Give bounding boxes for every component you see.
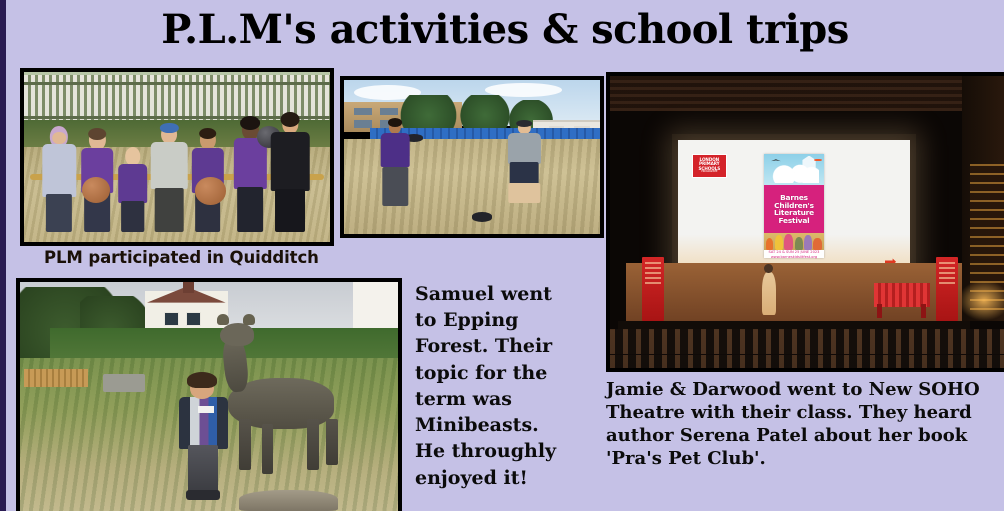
theatre-caption: Jamie & Darwood went to New SOHO Theatre… bbox=[606, 378, 1002, 470]
epping-forest-caption: Samuel went to Epping Forest. Their topi… bbox=[415, 281, 563, 491]
poster-website: www.barneskidslitfest.org bbox=[764, 255, 824, 260]
barnes-festival-poster: Barnes Children's Literature Festival bbox=[764, 154, 824, 259]
soho-theatre-photo: LONDON PRIMARY SCHOOLS PROGRAMME Barnes bbox=[606, 72, 1004, 372]
london-primary-schools-logo: LONDON PRIMARY SCHOOLS PROGRAMME bbox=[692, 154, 727, 178]
epping-forest-deer-photo bbox=[16, 278, 402, 511]
logo-line-4: PROGRAMME bbox=[701, 171, 717, 174]
quidditch-group-photo bbox=[20, 68, 334, 246]
poster-title-line-4: Festival bbox=[779, 217, 810, 225]
page-title: P.L.M's activities & school trips bbox=[6, 6, 1004, 53]
newsletter-page: P.L.M's activities & school trips bbox=[0, 0, 1004, 511]
quidditch-caption: PLM participated in Quidditch bbox=[44, 248, 319, 267]
quidditch-field-photo bbox=[340, 76, 604, 238]
